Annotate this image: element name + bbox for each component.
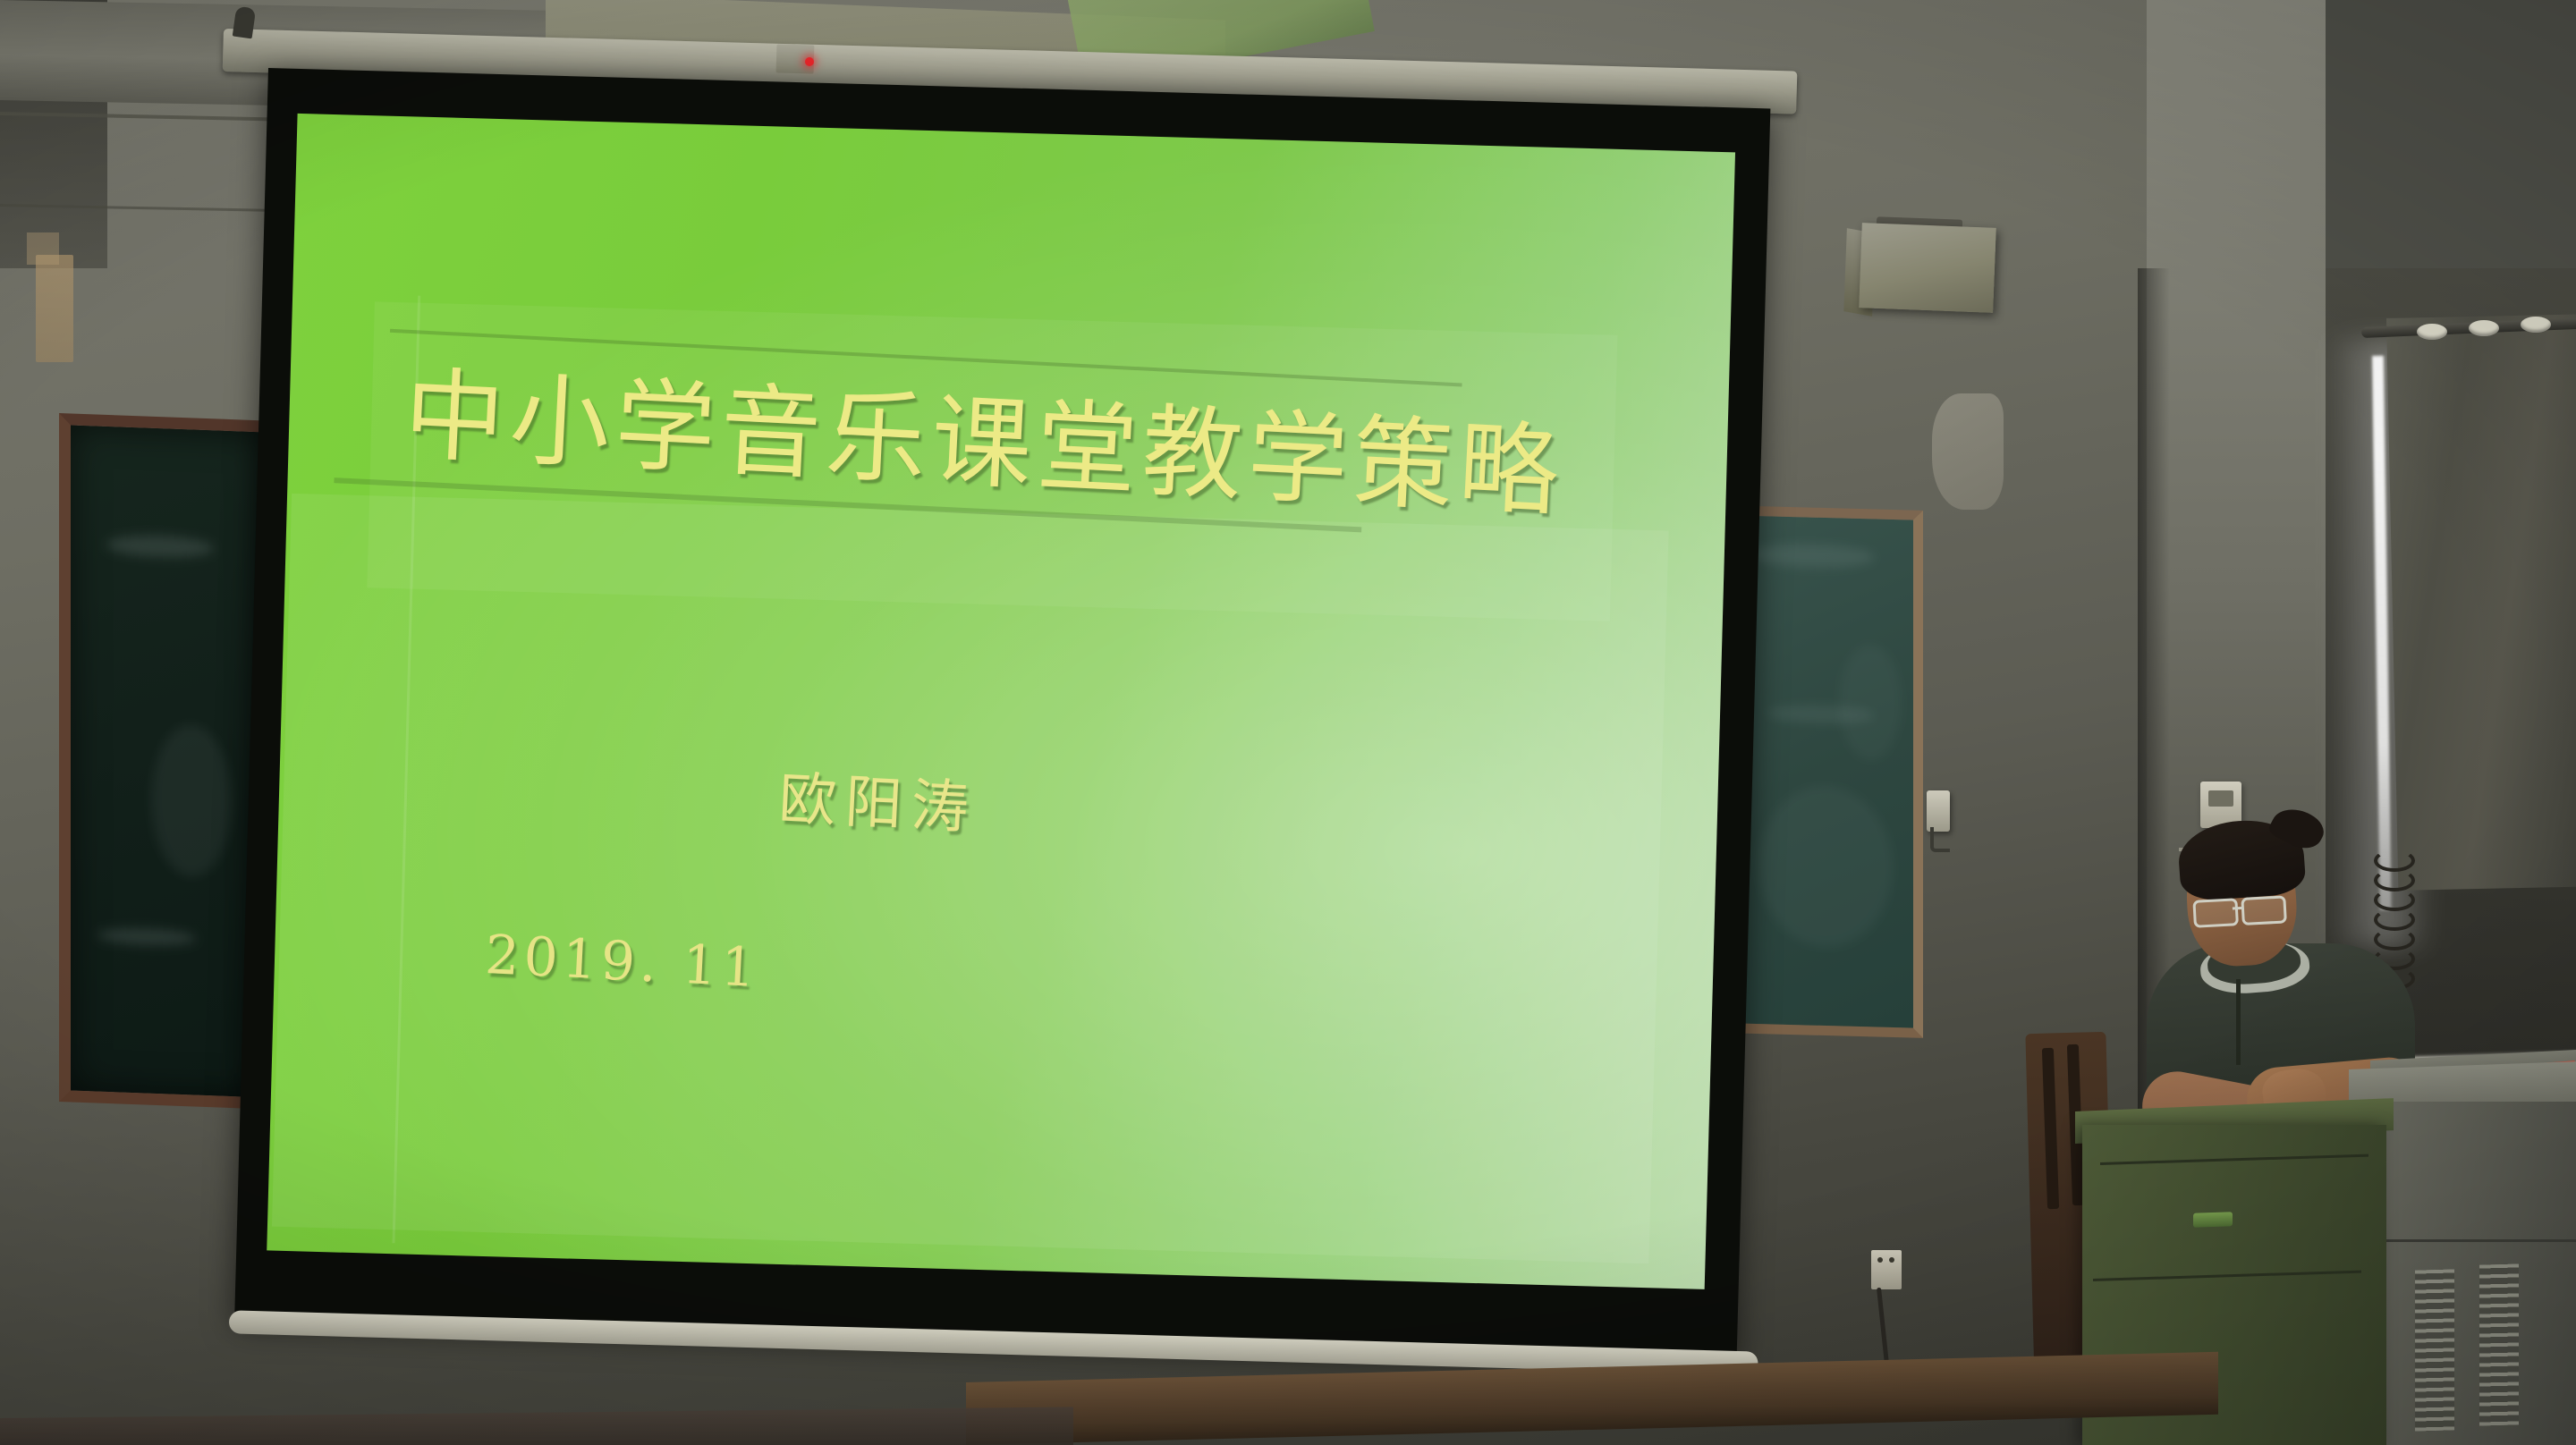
cabinet-seam xyxy=(2367,1239,2576,1242)
shirt-placket xyxy=(2236,979,2241,1065)
curtain-grommet xyxy=(2521,317,2551,333)
slide-panel-bottom xyxy=(272,494,1669,1263)
window-curtain[interactable] xyxy=(2386,314,2576,891)
power-led-icon xyxy=(805,57,814,66)
cabinet-vent-louvers xyxy=(2415,1269,2454,1431)
wall-speaker xyxy=(1859,223,1996,313)
classroom-photo: 中小学音乐课堂教学策略 欧阳涛 2019. 11 xyxy=(0,0,2576,1445)
wall-switch-hook-icon xyxy=(1930,827,1950,852)
screen-bracket xyxy=(233,6,257,39)
slide-author: 欧阳涛 xyxy=(777,753,979,845)
equipment-cabinet xyxy=(2361,1102,2576,1445)
cabinet-vent-louvers xyxy=(2479,1263,2519,1425)
wall-stain xyxy=(27,232,59,265)
glasses-icon xyxy=(2192,895,2290,924)
curtain-grommet xyxy=(2469,320,2499,336)
wall-paint-patch xyxy=(36,255,73,362)
projected-slide: 中小学音乐课堂教学策略 欧阳涛 2019. 11 xyxy=(267,114,1735,1289)
wall-switch[interactable] xyxy=(1927,790,1950,832)
curtain-grommet xyxy=(2417,324,2447,340)
projection-screen: 中小学音乐课堂教学策略 欧阳涛 2019. 11 xyxy=(234,68,1770,1360)
wall-peel-patch xyxy=(1932,393,2004,510)
wall-outlet xyxy=(1871,1250,1902,1289)
podium-drawer-handle[interactable] xyxy=(2193,1212,2233,1228)
